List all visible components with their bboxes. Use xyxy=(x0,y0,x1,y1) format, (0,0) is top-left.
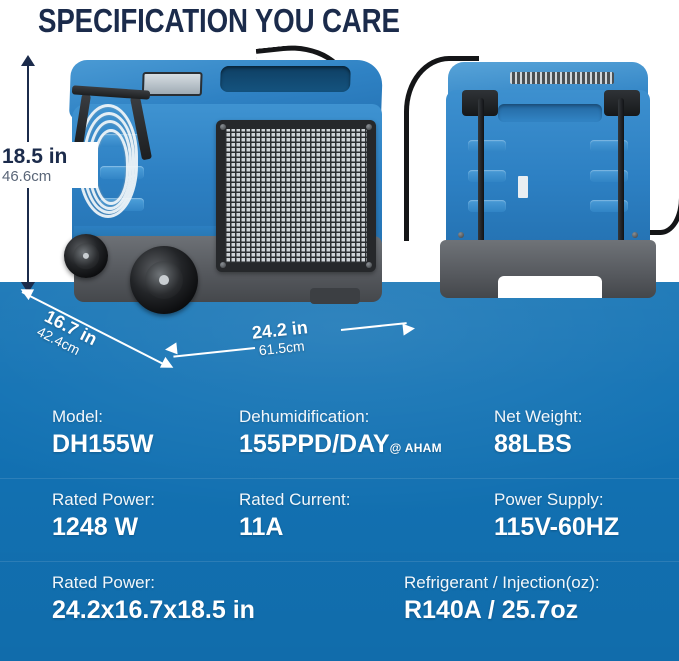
spec-cell-model: Model: DH155W xyxy=(52,406,153,460)
spec-value-text: 1248 W xyxy=(52,513,138,541)
spec-label: Rated Power: xyxy=(52,572,255,594)
grille-screw xyxy=(366,262,372,268)
handle-frame-rail xyxy=(618,98,624,248)
spec-cell-dehumidification: Dehumidification: 155PPD/DAY@ AHAM xyxy=(239,406,442,464)
dehumidifier-rear-view-image xyxy=(432,62,670,300)
spec-value-text: 88LBS xyxy=(494,430,572,458)
unit-base-rear xyxy=(440,240,656,298)
spec-label: Rated Power: xyxy=(52,489,155,511)
width-dimension: 24.2 in 61.5cm xyxy=(165,318,417,368)
spec-cell-power-supply: Power Supply: 115V-60HZ xyxy=(494,489,619,543)
grille-screw xyxy=(366,124,372,130)
height-dimension-label: 18.5 in 46.6cm xyxy=(0,142,98,188)
width-arrow-end xyxy=(402,322,415,335)
spec-value-suffix: @ AHAM xyxy=(390,441,442,455)
height-imperial: 18.5 in xyxy=(2,145,98,168)
grille-screw xyxy=(220,124,226,130)
top-recess xyxy=(220,66,351,92)
specification-page: SPECIFICATION YOU CARE xyxy=(0,0,679,661)
spec-value: 115V-60HZ xyxy=(494,511,619,543)
spec-value: 1248 W xyxy=(52,511,155,543)
spec-row: Rated Power: 1248 W Rated Current: 11A P… xyxy=(0,478,679,561)
depth-dimension-label: 16.7 in 42.4cm xyxy=(35,307,100,363)
width-dimension-label: 24.2 in 61.5cm xyxy=(251,318,310,359)
spec-row: Model: DH155W Dehumidification: 155PPD/D… xyxy=(0,396,679,478)
spec-label: Model: xyxy=(52,406,153,428)
spec-label: Rated Current: xyxy=(239,489,351,511)
spec-value: DH155W xyxy=(52,428,153,460)
spec-value-text: R140A / 25.7oz xyxy=(404,596,578,624)
body-screw xyxy=(632,232,638,238)
spec-value-text: 155PPD/DAY xyxy=(239,430,390,458)
base-cutout xyxy=(310,288,360,304)
control-panel xyxy=(142,72,203,96)
spec-value-text: DH155W xyxy=(52,430,153,458)
body-dimple xyxy=(468,170,506,182)
spec-cell-rated-power: Rated Power: 1248 W xyxy=(52,489,155,543)
spec-cell-refrigerant: Refrigerant / Injection(oz): R140A / 25.… xyxy=(404,572,600,626)
spec-label: Refrigerant / Injection(oz): xyxy=(404,572,600,594)
body-dimple xyxy=(468,200,506,212)
spec-value-text: 11A xyxy=(239,513,283,541)
height-metric: 46.6cm xyxy=(2,168,98,185)
width-dimension-line-left xyxy=(173,347,255,358)
grille-screw xyxy=(220,262,226,268)
width-dimension-line-right xyxy=(341,322,407,331)
spec-value: 88LBS xyxy=(494,428,583,460)
spec-value-text: 24.2x16.7x18.5 in xyxy=(52,596,255,624)
spec-cell-rated-current: Rated Current: 11A xyxy=(239,489,351,543)
spec-row: Rated Power: 24.2x16.7x18.5 in Refrigera… xyxy=(0,561,679,644)
rear-wheel xyxy=(64,234,108,278)
spec-cell-dimensions: Rated Power: 24.2x16.7x18.5 in xyxy=(52,572,255,626)
spec-value: 155PPD/DAY@ AHAM xyxy=(239,428,442,464)
handle-frame-rail xyxy=(478,98,484,248)
carry-handle-slot xyxy=(498,104,602,122)
specification-table: Model: DH155W Dehumidification: 155PPD/D… xyxy=(0,396,679,644)
exhaust-vent xyxy=(510,72,614,84)
spec-label: Dehumidification: xyxy=(239,406,442,428)
grille-mesh xyxy=(225,129,367,263)
spec-sticker xyxy=(518,176,528,198)
spec-value: 24.2x16.7x18.5 in xyxy=(52,594,255,626)
body-dimple xyxy=(468,140,506,152)
body-screw xyxy=(458,232,464,238)
spec-label: Net Weight: xyxy=(494,406,583,428)
base-cutout-rear xyxy=(498,276,602,298)
depth-dimension: 16.7 in 42.4cm xyxy=(16,285,184,365)
spec-value: 11A xyxy=(239,511,351,543)
spec-value: R140A / 25.7oz xyxy=(404,594,600,626)
width-arrow-start xyxy=(164,342,177,355)
air-filter-grille xyxy=(216,120,376,272)
spec-label: Power Supply: xyxy=(494,489,619,511)
power-cord-tail xyxy=(645,182,679,235)
spec-value-text: 115V-60HZ xyxy=(494,513,619,541)
spec-cell-net-weight: Net Weight: 88LBS xyxy=(494,406,583,460)
